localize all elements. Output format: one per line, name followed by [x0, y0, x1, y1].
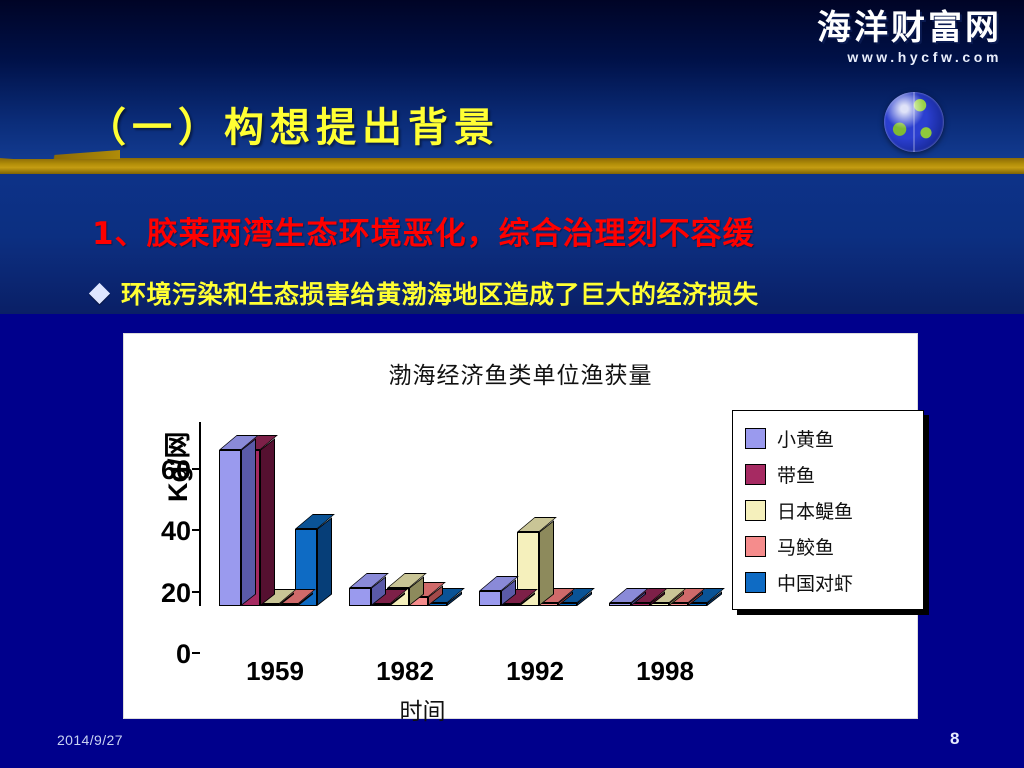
slide-canvas: 海洋财富网 www.hycfw.com （一）构想提出背景 1、胶莱两湾生态环境…: [0, 0, 1024, 768]
chart-y-tickmark: [192, 529, 200, 531]
chart-bars: [201, 422, 701, 606]
chart-bar-group: [609, 422, 727, 606]
legend-label: 马鲛鱼: [777, 533, 834, 560]
legend-swatch: [745, 500, 766, 521]
legend-label: 小黄鱼: [777, 425, 834, 452]
chart-y-tick: 0: [121, 641, 191, 668]
legend-swatch: [745, 464, 766, 485]
chart-y-tick: 60: [121, 457, 191, 484]
chart-bar-group: [349, 422, 467, 606]
chart-bar-group: [219, 422, 337, 606]
legend-item: 中国对虾: [745, 564, 913, 600]
chart-y-tick: 40: [121, 518, 191, 545]
chart-x-axis-label: 时间: [124, 692, 721, 726]
footer-date: 2014/9/27: [57, 732, 123, 748]
legend-item: 小黄鱼: [745, 420, 913, 456]
chart-title: 渤海经济鱼类单位渔获量: [124, 356, 917, 390]
chart-y-tick: 20: [121, 580, 191, 607]
brand-block: 海洋财富网 www.hycfw.com: [817, 10, 1002, 65]
legend-label: 中国对虾: [777, 569, 853, 596]
chart-y-tickmark: [192, 652, 200, 654]
brand-name: 海洋财富网: [817, 10, 1002, 47]
legend-swatch: [745, 536, 766, 557]
legend-label: 带鱼: [777, 461, 815, 488]
chart-x-tick: 1998: [610, 656, 720, 687]
chart-x-tick: 1982: [350, 656, 460, 687]
footer-page-number: 8: [950, 729, 959, 749]
chart-y-tickmark: [192, 591, 200, 593]
chart-x-ticks: 1959198219921998: [199, 656, 719, 690]
bullet-text: 环境污染和生态损害给黄渤海地区造成了巨大的经济损失: [121, 275, 759, 311]
primary-point: 1、胶莱两湾生态环境恶化，综合治理刻不容缓: [92, 208, 755, 253]
legend-item: 日本鳀鱼: [745, 492, 913, 528]
legend-label: 日本鳀鱼: [777, 497, 853, 524]
globe-icon: [884, 92, 944, 152]
chart-legend: 小黄鱼带鱼日本鳀鱼马鲛鱼中国对虾: [732, 410, 924, 610]
chart-y-tickmark: [192, 468, 200, 470]
gold-divider-bar: [0, 158, 1024, 174]
chart-card: 渤海经济鱼类单位渔获量 Kg/网 0204060 195919821992199…: [123, 333, 918, 719]
legend-item: 带鱼: [745, 456, 913, 492]
chart-plot-area: 0204060: [199, 422, 719, 654]
legend-swatch: [745, 572, 766, 593]
chart-bar-group: [479, 422, 597, 606]
chart-x-tick: 1959: [220, 656, 330, 687]
chart-x-tick: 1992: [480, 656, 590, 687]
bullet-row: 环境污染和生态损害给黄渤海地区造成了巨大的经济损失: [92, 275, 759, 311]
legend-item: 马鲛鱼: [745, 528, 913, 564]
diamond-bullet-icon: [89, 282, 110, 303]
brand-url: www.hycfw.com: [817, 49, 1002, 65]
legend-swatch: [745, 428, 766, 449]
page-title: （一）构想提出背景: [86, 95, 500, 153]
